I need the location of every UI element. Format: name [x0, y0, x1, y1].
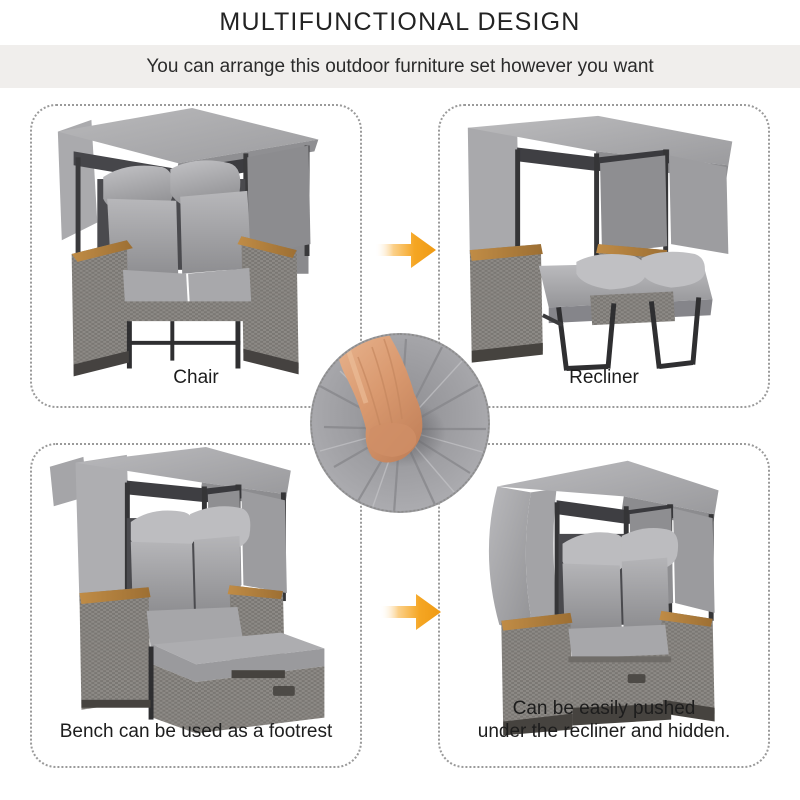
arrow-bench-to-hidden-icon	[380, 588, 442, 636]
page-title: MULTIFUNCTIONAL DESIGN	[219, 8, 580, 37]
subtitle-band: You can arrange this outdoor furniture s…	[0, 45, 800, 88]
panel-caption-bench: Bench can be used as a footrest	[32, 720, 360, 744]
title-band: MULTIFUNCTIONAL DESIGN	[0, 0, 800, 45]
arrow-chair-to-recliner-icon	[375, 226, 437, 274]
daybed-footrest-illustration	[32, 445, 360, 766]
panel-caption-hidden: Can be easily pushed under the recliner …	[440, 697, 768, 745]
page-subtitle: You can arrange this outdoor furniture s…	[146, 56, 653, 78]
daybed-recliner-illustration	[440, 106, 768, 406]
cushion-press-inset	[310, 333, 490, 513]
daybed-chair-illustration	[32, 106, 360, 406]
infographic-canvas: MULTIFUNCTIONAL DESIGN You can arrange t…	[0, 0, 800, 800]
panel-caption-chair: Chair	[32, 366, 360, 390]
panel-caption-recliner: Recliner	[440, 366, 768, 390]
